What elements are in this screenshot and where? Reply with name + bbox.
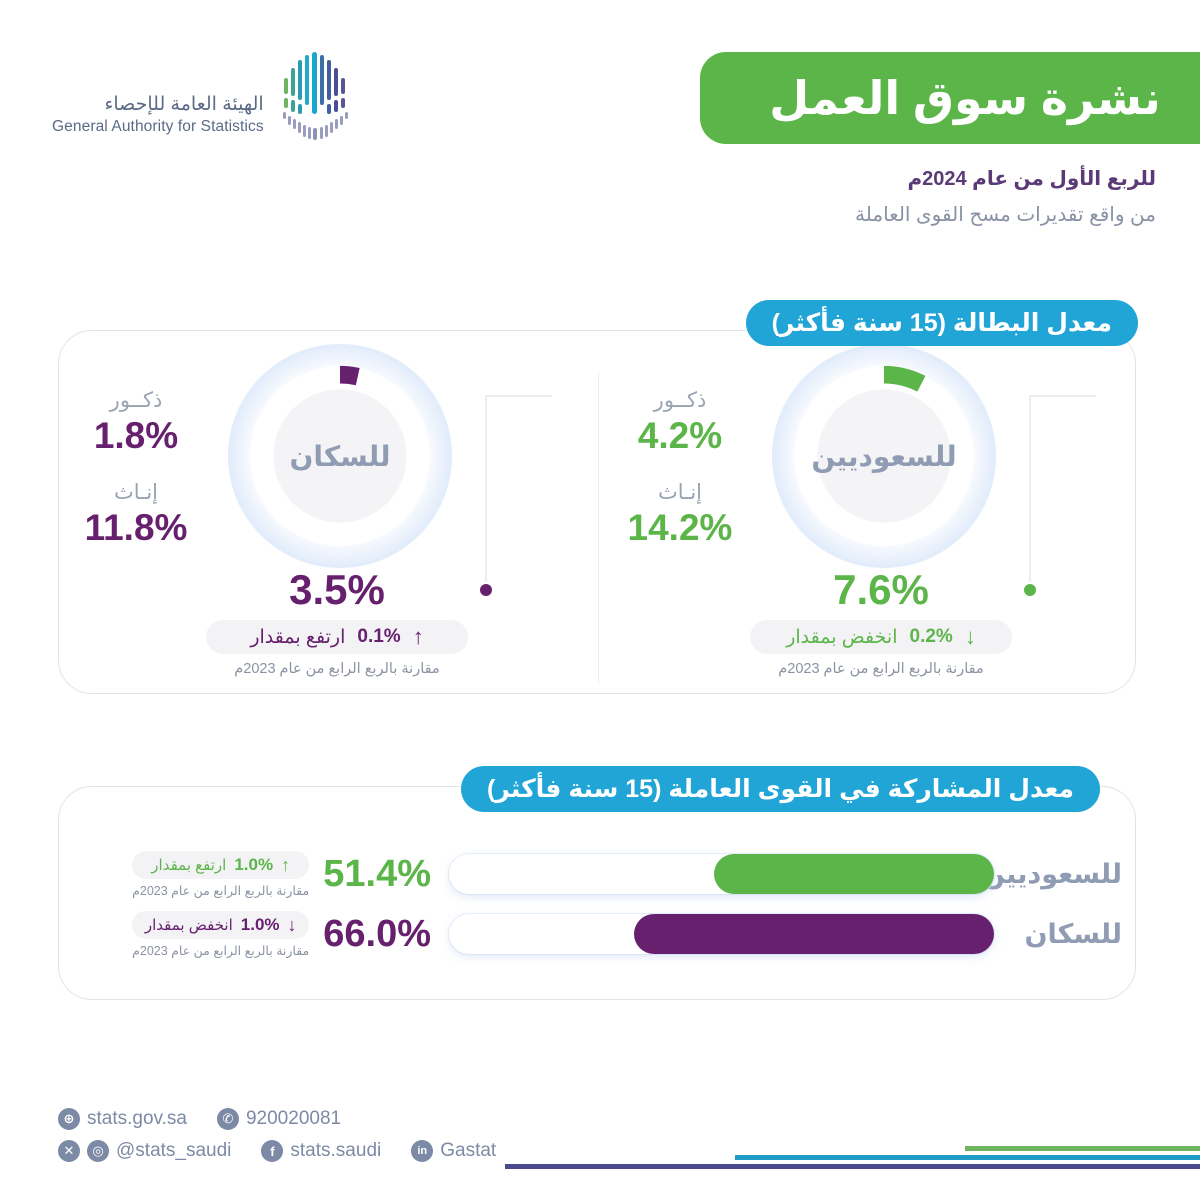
participation-row: للسكان 66.0% ↓ 1.0% انخفض بمقدار مقارنة …	[82, 906, 1122, 962]
unemployment-panel-population: للسكان ذكــور 1.8% إنـاث 11.8% 3.5% ↑ 0.…	[58, 330, 598, 694]
delta-chip: ↑ 0.1% ارتفع بمقدار	[206, 620, 468, 654]
delta-amount: 1.0%	[234, 855, 273, 875]
row-value: 66.0%	[323, 913, 431, 956]
bar-fill	[634, 914, 994, 954]
male-label: ذكــور	[46, 388, 226, 413]
main-value: 3.5%	[172, 568, 502, 612]
female-value: 11.8%	[46, 507, 226, 550]
row-delta: ↓ 1.0% انخفض بمقدار مقارنة بالربع الرابع…	[132, 911, 309, 958]
brand-name-en: General Authority for Statistics	[52, 117, 264, 136]
row-value: 51.4%	[323, 853, 431, 896]
male-label: ذكــور	[590, 388, 770, 413]
page-title: نشرة سوق العمل	[769, 71, 1161, 125]
page-title-banner: نشرة سوق العمل	[700, 52, 1200, 144]
delta-amount: 0.1%	[357, 626, 400, 648]
row-stats: 66.0% ↓ 1.0% انخفض بمقدار مقارنة بالربع …	[82, 911, 449, 958]
donut-center-label-population: للسكان	[242, 358, 438, 554]
globe-icon: ⊕	[58, 1108, 80, 1130]
bar-track	[449, 914, 994, 954]
participation-section-title: معدل المشاركة في القوى العاملة (15 سنة ف…	[487, 774, 1074, 804]
female-value: 14.2%	[590, 507, 770, 550]
donut-center-label-saudis: للسعوديين	[786, 358, 982, 554]
arrow-down-icon: ↓	[965, 626, 976, 648]
female-label: إنـاث	[590, 480, 770, 505]
main-stat-saudis: 7.6% ↓ 0.2% انخفض بمقدار مقارنة بالربع ا…	[716, 568, 1046, 677]
male-value: 1.8%	[46, 415, 226, 458]
unemployment-section-title: معدل البطالة (15 سنة فأكثر)	[772, 308, 1112, 338]
female-label: إنـاث	[46, 480, 226, 505]
delta-amount: 1.0%	[241, 915, 280, 935]
compare-note: مقارنة بالربع الرابع من عام 2023م	[132, 943, 309, 958]
brand-logo: الهيئة العامة للإحصاء General Authority …	[52, 48, 360, 140]
footer-decorative-lines	[0, 1128, 1200, 1172]
website-text: stats.gov.sa	[87, 1108, 187, 1130]
bar-fill	[714, 854, 994, 894]
subtitle-period: للربع الأول من عام 2024م	[556, 166, 1156, 191]
subtitle-source: من واقع تقديرات مسح القوى العاملة	[556, 202, 1156, 227]
delta-chip: ↑ 1.0% ارتفع بمقدار	[132, 851, 309, 879]
brand-name-ar: الهيئة العامة للإحصاء	[52, 93, 264, 117]
delta-amount: 0.2%	[910, 626, 953, 648]
compare-note: مقارنة بالربع الرابع من عام 2023م	[132, 883, 309, 898]
male-value: 4.2%	[590, 415, 770, 458]
unemployment-section-header: معدل البطالة (15 سنة فأكثر)	[746, 300, 1138, 346]
footer-website[interactable]: ⊕ stats.gov.sa	[58, 1108, 187, 1130]
unemployment-donut-population: للسكان	[242, 358, 438, 554]
compare-note: مقارنة بالربع الرابع من عام 2023م	[172, 661, 502, 677]
bar-track	[449, 854, 994, 894]
phone-icon: ✆	[217, 1108, 239, 1130]
gender-stats-saudis: ذكــور 4.2% إنـاث 14.2%	[590, 388, 770, 571]
compare-note: مقارنة بالربع الرابع من عام 2023م	[716, 661, 1046, 677]
row-delta: ↑ 1.0% ارتفع بمقدار مقارنة بالربع الرابع…	[132, 851, 309, 898]
infographic-page: الهيئة العامة للإحصاء General Authority …	[0, 0, 1200, 1200]
gastat-palm-logo-icon	[274, 48, 360, 140]
arrow-up-icon: ↑	[413, 626, 424, 648]
delta-chip: ↓ 1.0% انخفض بمقدار	[132, 911, 309, 939]
arrow-up-icon: ↑	[281, 856, 290, 874]
footer-line-1: ⊕ stats.gov.sa ✆ 920020081	[58, 1108, 518, 1130]
arrow-down-icon: ↓	[288, 916, 297, 934]
delta-text: انخفض بمقدار	[145, 916, 233, 934]
delta-text: ارتفع بمقدار	[151, 856, 226, 874]
delta-text: ارتفع بمقدار	[250, 626, 345, 649]
footer-phone[interactable]: ✆ 920020081	[217, 1108, 341, 1130]
phone-text: 920020081	[246, 1108, 341, 1130]
participation-row: للسعوديين 51.4% ↑ 1.0% ارتفع بمقدار مقار…	[82, 846, 1122, 902]
delta-text: انخفض بمقدار	[786, 626, 897, 649]
unemployment-donut-saudis: للسعوديين	[786, 358, 982, 554]
main-value: 7.6%	[716, 568, 1046, 612]
delta-chip: ↓ 0.2% انخفض بمقدار	[750, 620, 1012, 654]
brand-name: الهيئة العامة للإحصاء General Authority …	[52, 93, 264, 140]
gender-stats-population: ذكــور 1.8% إنـاث 11.8%	[46, 388, 226, 571]
main-stat-population: 3.5% ↑ 0.1% ارتفع بمقدار مقارنة بالربع ا…	[172, 568, 502, 677]
row-label: للسعوديين	[994, 859, 1122, 890]
unemployment-panel-saudis: للسعوديين ذكــور 4.2% إنـاث 14.2% 7.6% ↓…	[602, 330, 1142, 694]
row-stats: 51.4% ↑ 1.0% ارتفع بمقدار مقارنة بالربع …	[82, 851, 449, 898]
participation-section-header: معدل المشاركة في القوى العاملة (15 سنة ف…	[461, 766, 1100, 812]
row-label: للسكان	[994, 919, 1122, 950]
